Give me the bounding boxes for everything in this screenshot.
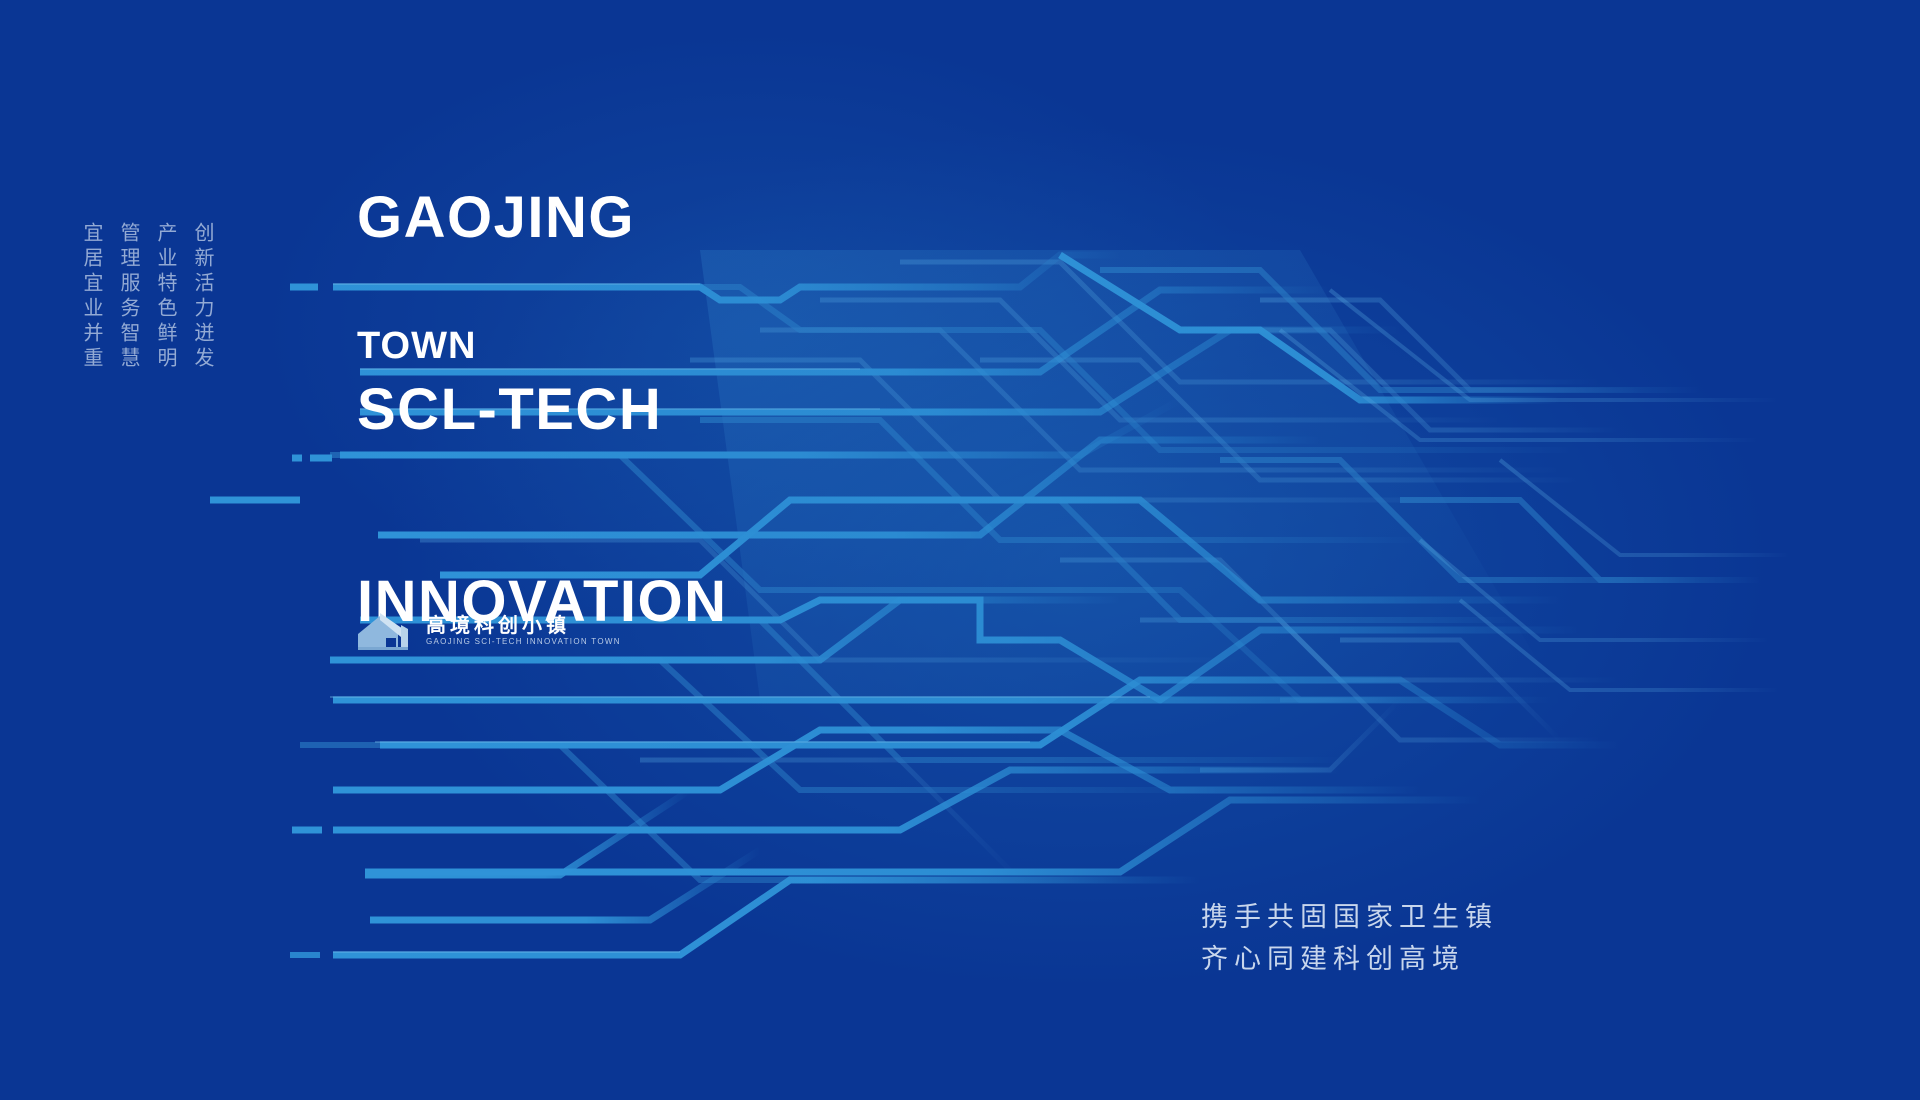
poster-canvas: GAOJING SCL-TECH INNOVATION TOWN 创新活力迸发 … bbox=[0, 0, 1920, 1100]
bottom-slogan: 携手共固国家卫生镇 齐心同建科创高境 bbox=[1201, 897, 1498, 981]
brand-logo: 高境科创小镇 GAOJING SCI-TECH INNOVATION TOWN bbox=[356, 607, 621, 653]
logo-name-en: GAOJING SCI-TECH INNOVATION TOWN bbox=[426, 638, 621, 646]
headline-line-1: GAOJING bbox=[357, 186, 728, 250]
house-building-icon bbox=[356, 607, 414, 653]
vertical-slogan-column-2: 产业特色鲜明 bbox=[152, 222, 181, 372]
page-title: GAOJING SCL-TECH INNOVATION bbox=[357, 58, 728, 762]
headline-line-2: SCL-TECH bbox=[357, 378, 728, 442]
vertical-slogan: 创新活力迸发 产业特色鲜明 管理服务智慧 宜居宜业并重 bbox=[78, 222, 218, 372]
vertical-slogan-column-1: 创新活力迸发 bbox=[189, 222, 218, 372]
logo-wordmark: 高境科创小镇 GAOJING SCI-TECH INNOVATION TOWN bbox=[426, 615, 621, 646]
bottom-slogan-line-1: 携手共固国家卫生镇 bbox=[1201, 897, 1498, 939]
vertical-slogan-column-3: 管理服务智慧 bbox=[115, 222, 144, 372]
logo-name-cn: 高境科创小镇 bbox=[426, 615, 621, 635]
circuit-trace-pattern bbox=[0, 0, 1920, 1100]
vertical-slogan-column-4: 宜居宜业并重 bbox=[78, 222, 107, 372]
bottom-slogan-line-2: 齐心同建科创高境 bbox=[1201, 939, 1498, 981]
headline-subtitle: TOWN bbox=[357, 325, 476, 368]
